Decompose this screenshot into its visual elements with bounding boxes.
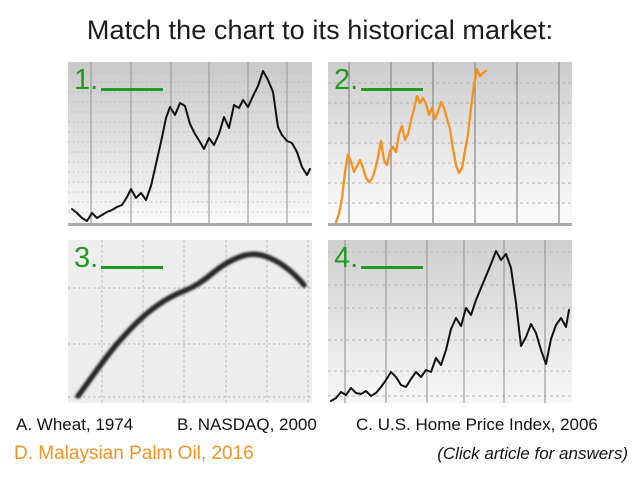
chart-4-plot-area xyxy=(328,240,572,403)
chart-1-svg xyxy=(68,62,312,226)
page-title: Match the chart to its historical market… xyxy=(0,14,640,46)
chart-panel-2[interactable]: 2. xyxy=(328,62,572,226)
answers-hint-text[interactable]: (Click article for answers) xyxy=(437,441,628,467)
charts-grid: 1. xyxy=(68,62,572,403)
chart-2-svg xyxy=(328,62,572,226)
chart-4-svg xyxy=(328,240,572,403)
chart-2-baseline xyxy=(328,223,572,226)
chart-3-svg xyxy=(68,240,312,403)
answer-row-top: A. Wheat, 1974 B. NASDAQ, 2000 C. U.S. H… xyxy=(0,412,640,440)
chart-panel-4[interactable]: 4. xyxy=(328,240,572,403)
chart-2-plot-area xyxy=(328,62,572,226)
answer-options: A. Wheat, 1974 B. NASDAQ, 2000 C. U.S. H… xyxy=(0,412,640,480)
answer-option-b[interactable]: B. NASDAQ, 2000 xyxy=(177,412,317,438)
answer-option-c[interactable]: C. U.S. Home Price Index, 2006 xyxy=(356,412,598,438)
chart-panel-3[interactable]: 3. xyxy=(68,240,312,403)
chart-1-baseline xyxy=(68,223,312,226)
chart-1-plot-area xyxy=(68,62,312,226)
chart-3-plot-area xyxy=(68,240,312,403)
answer-option-d[interactable]: D. Malaysian Palm Oil, 2016 xyxy=(14,441,254,467)
answer-option-a[interactable]: A. Wheat, 1974 xyxy=(16,412,133,438)
answer-row-bottom: D. Malaysian Palm Oil, 2016 (Click artic… xyxy=(0,441,640,469)
chart-panel-1[interactable]: 1. xyxy=(68,62,312,226)
